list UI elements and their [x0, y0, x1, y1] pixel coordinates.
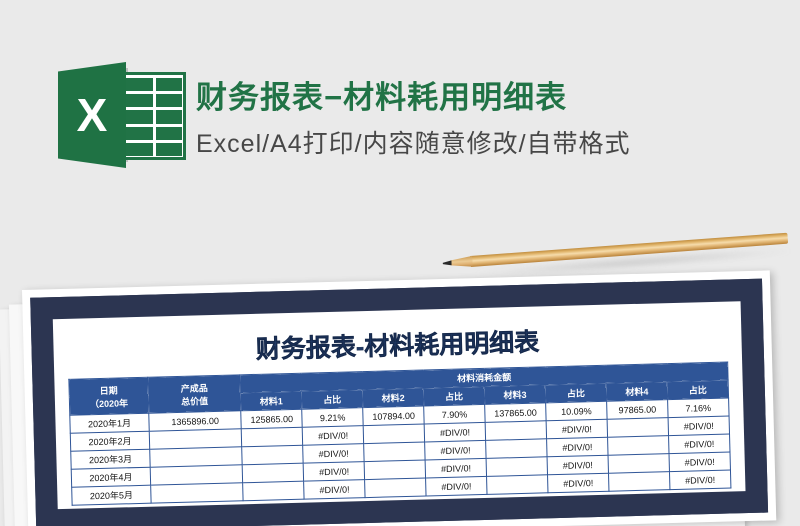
- cell-material-3[interactable]: 137865.00: [485, 403, 546, 423]
- table-body: 2020年1月1365896.00125865.009.21%107894.00…: [70, 398, 731, 505]
- cell-material-2[interactable]: [364, 442, 425, 462]
- header-total-value: 产成品 总价值: [148, 375, 241, 413]
- cell-material-2[interactable]: [363, 424, 424, 444]
- excel-logo-cell: [156, 143, 183, 156]
- promo-banner: X 财务报表−材料耗用明细表 Excel/A4打印/内容随意修改/自带格式: [0, 0, 800, 250]
- cell-total-value[interactable]: [151, 483, 244, 503]
- excel-logo-grid: [126, 78, 182, 156]
- document-page: 财务报表-材料耗用明细表 日期 （2020年 产成品 总价值: [53, 301, 746, 509]
- excel-logo-cell: [126, 94, 153, 107]
- header-date: 日期 （2020年: [69, 377, 149, 415]
- header-material-4: 材料4: [606, 382, 667, 402]
- cell-material-4[interactable]: [608, 436, 669, 456]
- cell-material-4[interactable]: 97865.00: [607, 400, 668, 420]
- excel-logo-cell: [156, 94, 183, 107]
- cell-material-4[interactable]: [608, 454, 669, 474]
- header-date-line1: 日期: [100, 385, 118, 395]
- cell-ratio-3[interactable]: #DIV/0!: [547, 455, 608, 475]
- header-ratio-2: 占比: [423, 386, 484, 406]
- cell-ratio-3[interactable]: #DIV/0!: [546, 419, 607, 439]
- cell-material-2[interactable]: [364, 460, 425, 480]
- spreadsheet-document: 财务报表-材料耗用明细表 日期 （2020年 产成品 总价值: [22, 270, 776, 526]
- cell-ratio-4[interactable]: #DIV/0!: [669, 452, 730, 472]
- cell-material-3[interactable]: [486, 457, 547, 477]
- material-consumption-table: 日期 （2020年 产成品 总价值 材料消耗金额 材料1 占比: [68, 362, 731, 506]
- cell-material-4[interactable]: [609, 472, 670, 492]
- excel-logo-letter: X: [58, 62, 126, 168]
- cell-ratio-3[interactable]: 10.09%: [546, 401, 607, 421]
- screenshot-stage: X 财务报表−材料耗用明细表 Excel/A4打印/内容随意修改/自带格式 财务…: [0, 0, 800, 526]
- cell-ratio-2[interactable]: #DIV/0!: [425, 440, 486, 460]
- header-ratio-4: 占比: [667, 380, 728, 400]
- cell-material-3[interactable]: [487, 475, 548, 495]
- excel-logo-cell: [126, 143, 153, 156]
- cell-material-2[interactable]: [365, 478, 426, 498]
- cell-date[interactable]: 2020年4月: [71, 467, 151, 487]
- cell-ratio-3[interactable]: #DIV/0!: [547, 437, 608, 457]
- header-material-2: 材料2: [362, 388, 423, 408]
- cell-material-2[interactable]: 107894.00: [363, 406, 424, 426]
- document-border-frame: 财务报表-材料耗用明细表 日期 （2020年 产成品 总价值: [30, 279, 768, 526]
- cell-ratio-1[interactable]: #DIV/0!: [302, 426, 363, 446]
- header-material-1: 材料1: [241, 391, 302, 411]
- cell-ratio-3[interactable]: #DIV/0!: [548, 473, 609, 493]
- excel-logo-cell: [156, 110, 183, 123]
- cell-material-1[interactable]: 125865.00: [241, 409, 302, 429]
- cell-ratio-2[interactable]: 7.90%: [424, 404, 485, 424]
- excel-logo-cell: [156, 127, 183, 140]
- cell-date[interactable]: 2020年2月: [70, 431, 150, 451]
- cell-date[interactable]: 2020年3月: [71, 449, 151, 469]
- cell-ratio-4[interactable]: #DIV/0!: [669, 470, 730, 490]
- cell-ratio-1[interactable]: #DIV/0!: [303, 444, 364, 464]
- excel-logo-icon: X: [58, 62, 186, 168]
- cell-ratio-1[interactable]: 9.21%: [302, 408, 363, 428]
- cell-ratio-2[interactable]: #DIV/0!: [425, 458, 486, 478]
- cell-ratio-4[interactable]: #DIV/0!: [668, 416, 729, 436]
- cell-ratio-1[interactable]: #DIV/0!: [304, 480, 365, 500]
- cell-ratio-2[interactable]: #DIV/0!: [424, 422, 485, 442]
- excel-logo-cell: [126, 127, 153, 140]
- cell-ratio-4[interactable]: 7.16%: [668, 398, 729, 418]
- promo-title: 财务报表−材料耗用明细表: [196, 72, 567, 117]
- cell-material-1[interactable]: [243, 481, 304, 501]
- header-ratio-3: 占比: [545, 383, 606, 403]
- cell-material-3[interactable]: [485, 421, 546, 441]
- cell-material-1[interactable]: [242, 427, 303, 447]
- header-date-line2: （2020年: [90, 398, 128, 409]
- cell-material-3[interactable]: [486, 439, 547, 459]
- header-total-line2: 总价值: [181, 396, 208, 407]
- header-ratio-1: 占比: [302, 390, 363, 410]
- cell-material-4[interactable]: [607, 418, 668, 438]
- cell-ratio-4[interactable]: #DIV/0!: [669, 434, 730, 454]
- cell-material-1[interactable]: [242, 445, 303, 465]
- cell-ratio-1[interactable]: #DIV/0!: [303, 462, 364, 482]
- cell-date[interactable]: 2020年1月: [70, 413, 150, 433]
- header-material-3: 材料3: [484, 385, 545, 405]
- promo-subtitle: Excel/A4打印/内容随意修改/自带格式: [196, 124, 631, 160]
- excel-logo-cell: [126, 110, 153, 123]
- document-title: 财务报表-材料耗用明细表: [67, 318, 728, 371]
- pencil-sharpened-wood: [448, 256, 473, 269]
- cell-material-1[interactable]: [242, 463, 303, 483]
- pencil-graphite-tip: [442, 260, 451, 266]
- excel-logo-cell: [156, 78, 183, 91]
- cell-date[interactable]: 2020年5月: [72, 485, 152, 505]
- cell-ratio-2[interactable]: #DIV/0!: [426, 476, 487, 496]
- excel-logo-cell: [126, 78, 153, 91]
- header-total-line1: 产成品: [181, 383, 208, 394]
